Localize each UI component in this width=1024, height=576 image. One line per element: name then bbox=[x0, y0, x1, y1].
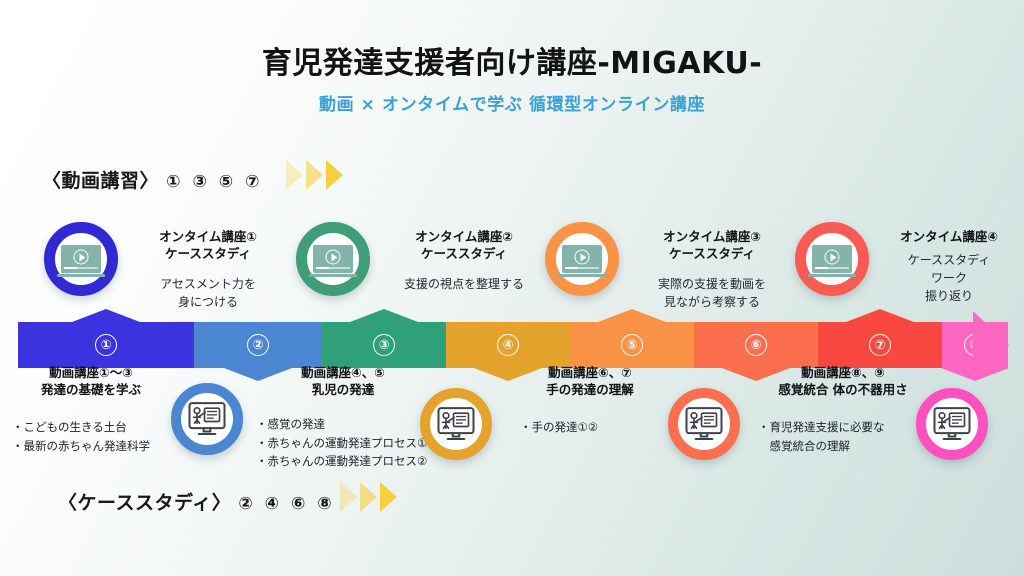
chevron-right-icon bbox=[326, 160, 343, 190]
casestudy-section-text: 〈ケーススタディ〉 bbox=[58, 492, 231, 514]
bullet-item: ・最新の赤ちゃん発達科学 bbox=[12, 437, 150, 456]
video-bullets-2: ・感覚の発達 ・赤ちゃんの運動発達プロセス① ・赤ちゃんの運動発達プロセス② bbox=[256, 415, 427, 471]
ontime-desc-4-line1: ケーススタディ bbox=[884, 251, 1014, 269]
ontime-heading-2: オンタイム講座② bbox=[388, 228, 540, 245]
video-course-icon-3[interactable] bbox=[668, 388, 740, 460]
bullet-item: ・感覚の発達 bbox=[256, 415, 427, 434]
timeline-segment-7[interactable]: ⑦ bbox=[818, 322, 942, 368]
ontime-course-icon-4[interactable] bbox=[795, 222, 869, 296]
ontime-heading2-1: ケーススタディ bbox=[138, 245, 278, 262]
ontime-heading-1: オンタイム講座① bbox=[138, 228, 278, 245]
video-course-icon-1[interactable] bbox=[171, 383, 243, 455]
presenter-monitor-icon bbox=[187, 401, 227, 437]
ontime-course-icon-3[interactable] bbox=[545, 222, 619, 296]
timeline-number-2: ② bbox=[247, 334, 269, 356]
video-heading-3: 動画講座⑥、⑦ bbox=[505, 364, 675, 381]
video-course-icon-2[interactable] bbox=[420, 388, 492, 460]
casestudy-section-label: 〈ケーススタディ〉 ② ④ ⑥ ⑧ bbox=[58, 488, 335, 515]
video-section-text: 〈動画講習〉 bbox=[42, 170, 159, 192]
video-play-icon bbox=[812, 245, 852, 273]
video-section-label: 〈動画講習〉 ① ③ ⑤ ⑦ bbox=[42, 166, 262, 193]
timeline-segment-2[interactable]: ② bbox=[194, 322, 322, 368]
video-heading-1: 動画講座①〜③ bbox=[8, 364, 174, 381]
casestudy-section-chevrons bbox=[340, 482, 397, 512]
video-course-text-4: 動画講座⑧、⑨ 感覚統合 体の不器用さ bbox=[748, 364, 938, 399]
ontime-desc-3-line2: 見ながら考察する bbox=[637, 293, 787, 311]
video-heading2-2: 乳児の発達 bbox=[258, 381, 428, 398]
chevron-right-icon bbox=[340, 482, 357, 512]
bullet-item: 感覚統合の理解 bbox=[758, 437, 885, 456]
ontime-desc-4-line3: 振り返り bbox=[884, 287, 1014, 305]
timeline-segment-3[interactable]: ③ bbox=[322, 322, 446, 368]
ontime-course-text-4: オンタイム講座④ ケーススタディ ワーク 振り返り bbox=[884, 228, 1014, 305]
video-bullets-1: ・こどもの生きる土台 ・最新の赤ちゃん発達科学 bbox=[12, 418, 150, 455]
video-section-numbers: ① ③ ⑤ ⑦ bbox=[166, 172, 262, 192]
video-play-icon bbox=[562, 245, 602, 273]
video-section-chevrons bbox=[286, 160, 343, 190]
ontime-heading2-3: ケーススタディ bbox=[637, 245, 787, 262]
page-subtitle: 動画 × オンタイムで学ぶ 循環型オンライン講座 bbox=[0, 90, 1024, 115]
bullet-item: ・育児発達支援に必要な bbox=[758, 418, 885, 437]
presenter-monitor-icon bbox=[932, 406, 972, 442]
presenter-monitor-icon bbox=[684, 406, 724, 442]
ontime-course-text-3: オンタイム講座③ ケーススタディ 実際の支援を動画を 見ながら考察する bbox=[637, 228, 787, 311]
ontime-course-icon-2[interactable] bbox=[296, 222, 370, 296]
ontime-desc-1-line1: アセスメント力を bbox=[138, 275, 278, 293]
video-course-icon-4[interactable] bbox=[916, 388, 988, 460]
ontime-heading2-2: ケーススタディ bbox=[388, 245, 540, 262]
timeline-number-7: ⑦ bbox=[869, 334, 891, 356]
timeline-number-3: ③ bbox=[373, 334, 395, 356]
timeline-number-5: ⑤ bbox=[621, 334, 643, 356]
ontime-desc-3-line1: 実際の支援を動画を bbox=[637, 275, 787, 293]
video-course-text-3: 動画講座⑥、⑦ 手の発達の理解 bbox=[505, 364, 675, 399]
timeline-number-1: ① bbox=[95, 334, 117, 356]
ontime-desc-1-line2: 身につける bbox=[138, 293, 278, 311]
video-heading2-4: 感覚統合 体の不器用さ bbox=[748, 381, 938, 398]
ontime-heading-4: オンタイム講座④ bbox=[884, 228, 1014, 245]
ontime-desc-4-line2: ワーク bbox=[884, 269, 1014, 287]
bullet-item: ・こどもの生きる土台 bbox=[12, 418, 150, 437]
chevron-right-icon bbox=[286, 160, 303, 190]
presenter-monitor-icon bbox=[436, 406, 476, 442]
course-timeline: ① ② ③ ④ ⑤ ⑥ ⑦ ⑧ bbox=[18, 322, 1008, 368]
chevron-right-icon bbox=[360, 482, 377, 512]
video-bullets-3: ・手の発達①② bbox=[520, 418, 598, 437]
chevron-right-icon bbox=[380, 482, 397, 512]
video-heading2-1: 発達の基礎を学ぶ bbox=[8, 381, 174, 398]
bullet-item: ・赤ちゃんの運動発達プロセス① bbox=[256, 434, 427, 453]
timeline-number-6: ⑥ bbox=[745, 334, 767, 356]
timeline-arrowhead bbox=[973, 311, 1009, 379]
video-heading-2: 動画講座④、⑤ bbox=[258, 364, 428, 381]
video-heading-4: 動画講座⑧、⑨ bbox=[748, 364, 938, 381]
ontime-course-text-1: オンタイム講座① ケーススタディ アセスメント力を 身につける bbox=[138, 228, 278, 311]
video-bullets-4: ・育児発達支援に必要な 感覚統合の理解 bbox=[758, 418, 885, 455]
timeline-segment-6[interactable]: ⑥ bbox=[694, 322, 818, 368]
chevron-right-icon bbox=[306, 160, 323, 190]
bullet-item: ・手の発達①② bbox=[520, 418, 598, 437]
video-play-icon bbox=[61, 245, 101, 273]
page-title: 育児発達支援者向け講座-MIGAKU- bbox=[0, 38, 1024, 82]
video-course-text-2: 動画講座④、⑤ 乳児の発達 bbox=[258, 364, 428, 399]
timeline-segment-4[interactable]: ④ bbox=[446, 322, 570, 368]
bullet-item: ・赤ちゃんの運動発達プロセス② bbox=[256, 452, 427, 471]
infographic-canvas: 育児発達支援者向け講座-MIGAKU- 動画 × オンタイムで学ぶ 循環型オンラ… bbox=[0, 0, 1024, 576]
ontime-course-text-2: オンタイム講座② ケーススタディ 支援の視点を整理する bbox=[388, 228, 540, 293]
ontime-course-icon-1[interactable] bbox=[44, 222, 118, 296]
timeline-segment-5[interactable]: ⑤ bbox=[570, 322, 694, 368]
timeline-segment-1[interactable]: ① bbox=[18, 322, 194, 368]
video-course-text-1: 動画講座①〜③ 発達の基礎を学ぶ bbox=[8, 364, 174, 399]
video-play-icon bbox=[313, 245, 353, 273]
casestudy-section-numbers: ② ④ ⑥ ⑧ bbox=[238, 494, 334, 514]
timeline-number-4: ④ bbox=[497, 334, 519, 356]
ontime-heading-3: オンタイム講座③ bbox=[637, 228, 787, 245]
ontime-desc-2-line1: 支援の視点を整理する bbox=[388, 275, 540, 293]
video-heading2-3: 手の発達の理解 bbox=[505, 381, 675, 398]
